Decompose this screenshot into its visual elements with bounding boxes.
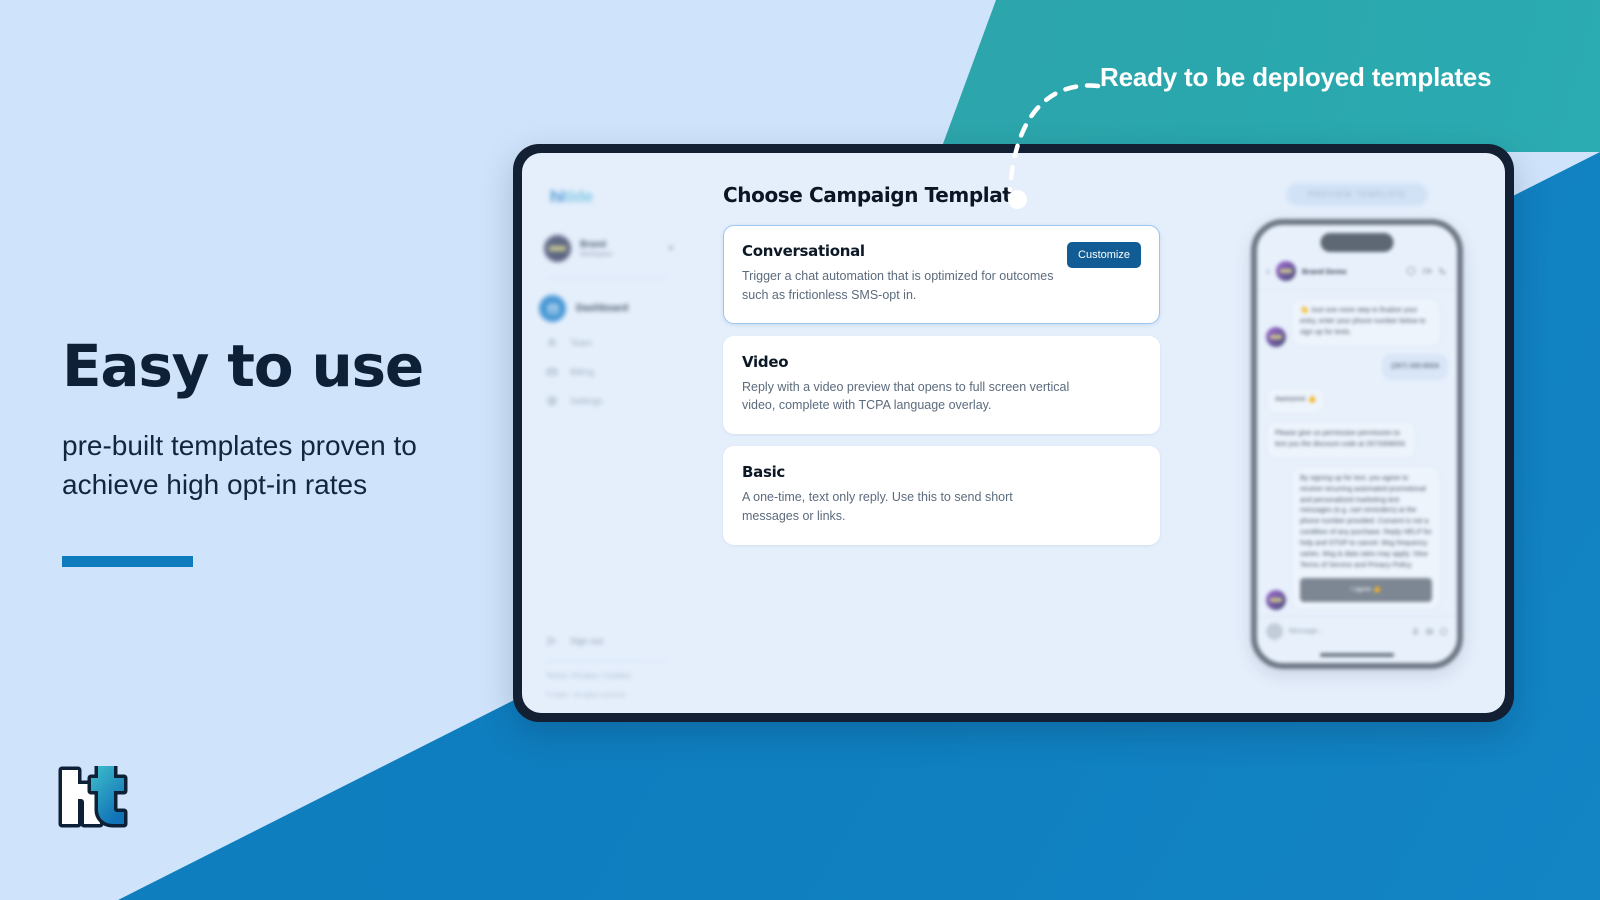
legal-links[interactable]: Terms • Privacy • Cookies: [546, 673, 675, 680]
accent-bar: [62, 556, 193, 567]
tcpa-disclosure-text: By signing up for text, you agree to rec…: [1300, 475, 1432, 569]
promo-slide: Easy to use pre-built templates proven t…: [0, 0, 1600, 900]
template-list: Conversational Trigger a chat automation…: [723, 225, 1160, 545]
app-logo: hitide: [550, 187, 675, 207]
home-indicator: [1320, 653, 1394, 657]
sidebar-item-billing[interactable]: Billing: [544, 364, 675, 380]
device-frame: hitide Brand Workspace ▾: [513, 144, 1514, 722]
message-composer[interactable]: Message...: [1257, 616, 1457, 646]
emoji-icon[interactable]: [1439, 627, 1448, 636]
sidebar-item-label: Team: [570, 338, 592, 348]
sidebar-footer-divider: [546, 661, 667, 662]
preview-panel: PREVIEW TEMPLATE ‹ Brand Demo: [1209, 153, 1505, 713]
sign-out-icon: [544, 633, 560, 649]
sidebar-item-team[interactable]: Team: [544, 335, 675, 351]
video-icon[interactable]: [1422, 266, 1432, 276]
message-row: Please give us permission permission to …: [1266, 421, 1448, 459]
message-row: (267) 330-8004: [1266, 354, 1448, 381]
workspace-switcher[interactable]: Brand Workspace ▾: [544, 235, 675, 262]
template-description: Reply with a video preview that opens to…: [742, 378, 1072, 416]
message-row: Awesome 👍: [1266, 387, 1448, 414]
sidebar-item-dashboard[interactable]: Dashboard: [544, 295, 675, 322]
sidebar-item-label: Dashboard: [576, 303, 628, 314]
template-card-conversational[interactable]: Conversational Trigger a chat automation…: [723, 225, 1160, 324]
template-description: A one-time, text only reply. Use this to…: [742, 488, 1072, 526]
template-card-basic[interactable]: Basic A one-time, text only reply. Use t…: [723, 446, 1160, 545]
workspace-name: Brand: [580, 239, 659, 249]
template-description: Trigger a chat automation that is optimi…: [742, 267, 1072, 305]
workspace-subtitle: Workspace: [580, 251, 659, 258]
message-input[interactable]: Message...: [1289, 628, 1405, 635]
phone-mockup: ‹ Brand Demo 👋: [1251, 219, 1463, 669]
app-logo-part2: tide: [564, 187, 593, 206]
sign-out-label: Sign out: [570, 636, 603, 646]
template-name: Basic: [742, 463, 1141, 481]
sidebar-item-label: Billing: [570, 367, 594, 377]
microphone-icon[interactable]: [1411, 627, 1420, 636]
message-row: By signing up for text, you agree to rec…: [1266, 466, 1448, 610]
avatar: [1266, 590, 1286, 610]
sidebar-item-label: Settings: [570, 396, 603, 406]
chat-bubble-consent: By signing up for text, you agree to rec…: [1291, 466, 1441, 610]
sign-out-button[interactable]: Sign out: [544, 633, 675, 649]
sidebar-divider: [546, 278, 667, 279]
sidebar: hitide Brand Workspace ▾: [522, 153, 691, 713]
composer-icons: [1411, 627, 1448, 636]
dynamic-island: [1321, 233, 1394, 252]
chat-bubble-incoming: Awesome 👍: [1266, 387, 1325, 414]
sidebar-item-settings[interactable]: Settings: [544, 393, 675, 409]
workspace-avatar: [544, 235, 571, 262]
credit-card-icon: [544, 364, 560, 380]
message-row: 👋 Just one more step to finalize your en…: [1266, 298, 1448, 347]
agree-button[interactable]: I agree 👍: [1300, 578, 1432, 602]
avatar: [1276, 261, 1296, 281]
avatar: [1266, 327, 1286, 347]
chat-message-list: 👋 Just one more step to finalize your en…: [1257, 290, 1457, 618]
chat-header-icons: [1406, 266, 1448, 276]
template-card-video[interactable]: Video Reply with a video preview that op…: [723, 336, 1160, 435]
chat-bubble-outgoing: (267) 330-8004: [1382, 354, 1448, 381]
users-icon: [544, 335, 560, 351]
dashboard-icon: [539, 295, 566, 322]
chat-bubble-incoming: 👋 Just one more step to finalize your en…: [1291, 298, 1441, 347]
ht-logo: [58, 766, 128, 833]
phone-icon[interactable]: [1438, 266, 1448, 276]
gear-icon: [544, 393, 560, 409]
app-logo-part1: hi: [550, 187, 564, 206]
workspace-text: Brand Workspace: [580, 239, 659, 258]
copyright-text: © hitide - All rights reserved: [546, 692, 675, 699]
page-subtitle: pre-built templates proven to achieve hi…: [62, 427, 492, 504]
template-name: Video: [742, 353, 1141, 371]
info-icon[interactable]: [1406, 266, 1416, 276]
chat-title: Brand Demo: [1302, 267, 1400, 276]
composer-avatar: [1266, 623, 1283, 640]
marketing-copy: Easy to use pre-built templates proven t…: [62, 336, 492, 567]
preview-template-pill[interactable]: PREVIEW TEMPLATE: [1286, 183, 1428, 206]
main-content: Choose Campaign Template Conversational …: [691, 153, 1505, 713]
camera-icon[interactable]: [1425, 627, 1434, 636]
annotation-label: Ready to be deployed templates: [1100, 62, 1491, 93]
chat-bubble-incoming: Please give us permission permission to …: [1266, 421, 1416, 459]
back-chevron-icon[interactable]: ‹: [1266, 264, 1270, 278]
page-title: Easy to use: [62, 336, 492, 397]
app-screen: hitide Brand Workspace ▾: [522, 153, 1505, 713]
sidebar-spacer: [538, 409, 675, 633]
annotation-endpoint-dot: [1008, 190, 1027, 209]
chevron-down-icon[interactable]: ▾: [668, 243, 673, 254]
customize-button[interactable]: Customize: [1067, 242, 1141, 268]
sidebar-nav: Dashboard Team: [544, 295, 675, 409]
